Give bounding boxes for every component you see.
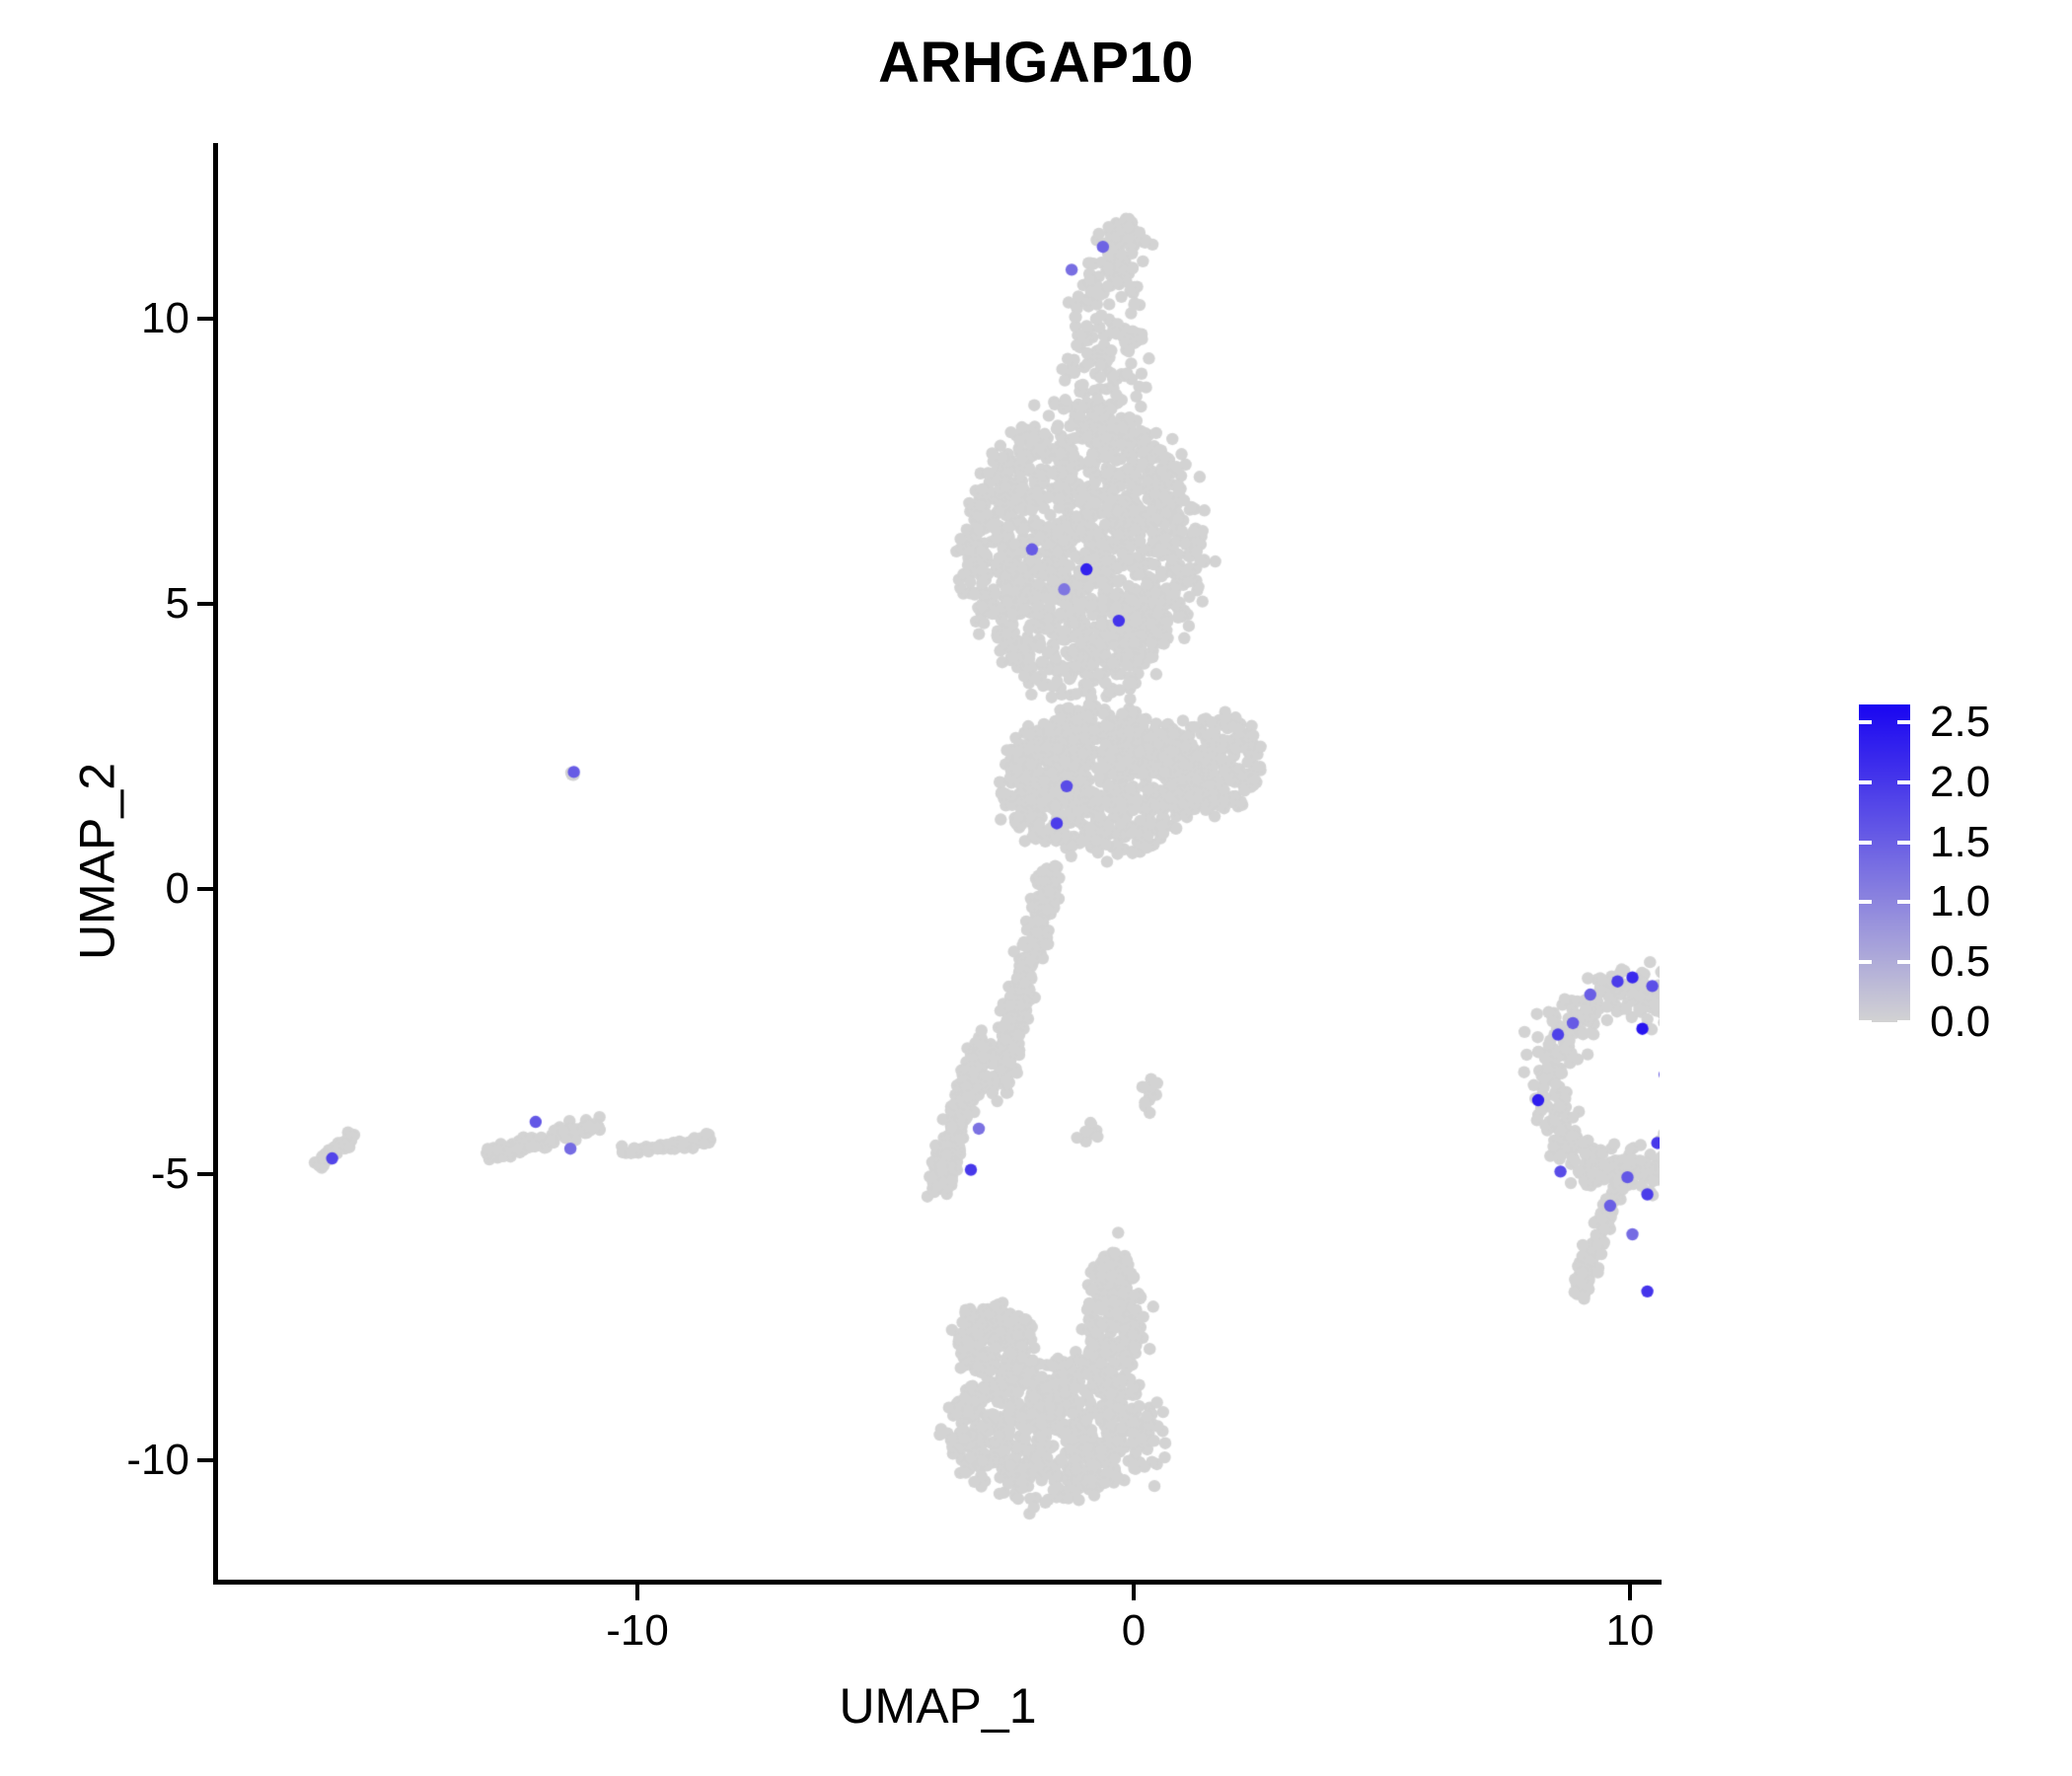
colorbar-tick-label: 2.5: [1930, 698, 1990, 747]
colorbar-tick-label: 0.0: [1930, 998, 1990, 1047]
y-tick-mark: [197, 602, 213, 606]
x-tick-label: 10: [1606, 1606, 1655, 1656]
umap-feature-plot: ARHGAP10 -10-50510 -10010 UMAP_1 UMAP_2 …: [0, 0, 2072, 1776]
colorbar-tick-label: 1.5: [1930, 818, 1990, 867]
scatter-canvas: [216, 143, 1660, 1582]
y-tick-mark: [197, 1458, 213, 1462]
y-tick-label: -10: [126, 1436, 189, 1485]
y-tick-mark: [197, 317, 213, 321]
x-tick-mark: [1132, 1585, 1136, 1600]
y-tick-label: 0: [166, 864, 189, 914]
colorbar-tick-label: 0.5: [1930, 937, 1990, 987]
x-tick-label: 0: [1122, 1606, 1146, 1656]
x-tick-label: -10: [606, 1606, 669, 1656]
plot-panel: [216, 143, 1660, 1582]
colorbar-gradient: [1859, 704, 1910, 1022]
x-tick-mark: [635, 1585, 639, 1600]
y-tick-mark: [197, 887, 213, 891]
x-axis-line: [213, 1580, 1662, 1585]
page-title: ARHGAP10: [0, 30, 2072, 96]
y-axis-title: UMAP_2: [69, 140, 126, 1584]
colorbar-tick-label: 2.0: [1930, 758, 1990, 807]
y-tick-label: 5: [166, 579, 189, 629]
colorbar-legend: 0.00.51.01.52.02.5: [1859, 704, 2056, 1030]
y-tick-label: 10: [141, 294, 189, 343]
y-tick-label: -5: [151, 1149, 189, 1199]
y-axis-line: [213, 143, 218, 1585]
x-axis-title: UMAP_1: [216, 1677, 1660, 1735]
colorbar-tick-label: 1.0: [1930, 877, 1990, 926]
x-tick-mark: [1628, 1585, 1632, 1600]
y-tick-mark: [197, 1172, 213, 1176]
